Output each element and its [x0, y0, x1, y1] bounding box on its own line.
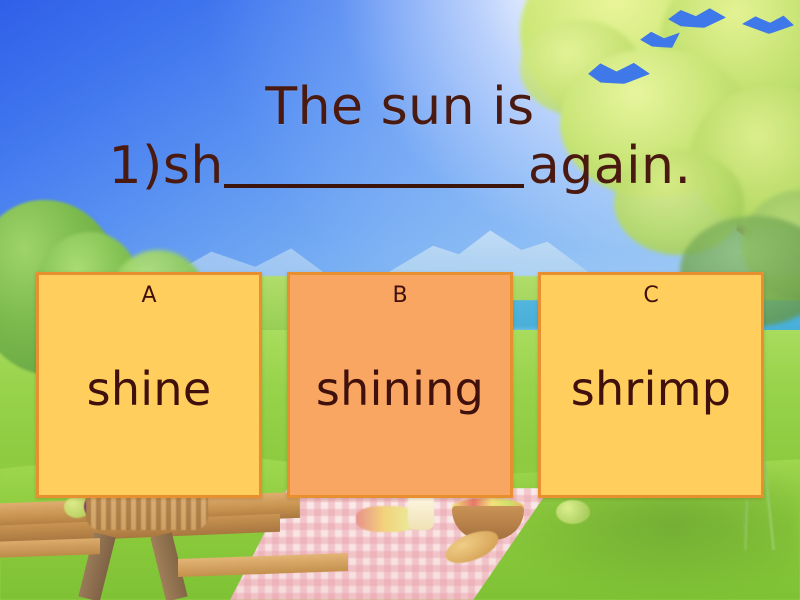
picnic-cup: [408, 496, 434, 530]
answer-options: A shine B shining C shrimp: [36, 272, 764, 498]
melon: [556, 500, 590, 524]
answer-letter-a: A: [39, 283, 259, 309]
answer-option-a[interactable]: A shine: [36, 272, 262, 498]
answer-text-c: shrimp: [571, 363, 732, 415]
answer-letter-c: C: [541, 283, 761, 309]
answer-letter-b: B: [290, 283, 510, 309]
quiz-slide: The sun is 1)shagain. A shine B shining …: [0, 0, 800, 600]
answer-text-a: shine: [87, 363, 212, 415]
answer-option-b[interactable]: B shining: [287, 272, 513, 498]
answer-option-c[interactable]: C shrimp: [538, 272, 764, 498]
answer-text-b: shining: [316, 363, 484, 415]
